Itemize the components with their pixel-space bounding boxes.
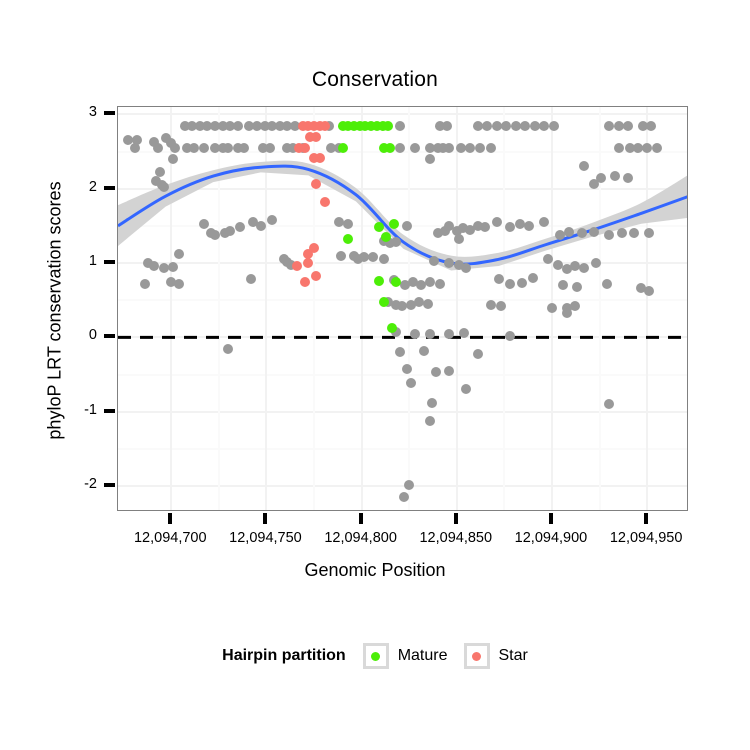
data-point bbox=[482, 121, 492, 131]
data-point bbox=[505, 279, 515, 289]
data-point bbox=[189, 143, 199, 153]
legend-dot-icon bbox=[371, 652, 380, 661]
data-point bbox=[256, 221, 266, 231]
data-point bbox=[555, 230, 565, 240]
x-axis-tick bbox=[263, 513, 267, 524]
data-point bbox=[311, 132, 321, 142]
y-axis-tick-label: -2 bbox=[57, 476, 97, 492]
legend-dot-icon bbox=[472, 652, 481, 661]
data-point bbox=[530, 121, 540, 131]
x-axis-title: Genomic Position bbox=[0, 560, 750, 581]
data-point bbox=[564, 227, 574, 237]
data-point bbox=[475, 143, 485, 153]
data-point bbox=[591, 258, 601, 268]
data-point bbox=[427, 398, 437, 408]
x-axis-tick bbox=[168, 513, 172, 524]
legend-item-mature[interactable]: Mature bbox=[363, 643, 448, 669]
data-point bbox=[383, 121, 393, 131]
data-point bbox=[442, 121, 452, 131]
data-point bbox=[174, 279, 184, 289]
data-point bbox=[410, 143, 420, 153]
y-axis-tick-label: -1 bbox=[57, 402, 97, 418]
data-point bbox=[444, 329, 454, 339]
data-point bbox=[633, 143, 643, 153]
y-axis-tick bbox=[104, 186, 115, 190]
data-point bbox=[517, 278, 527, 288]
data-point bbox=[515, 219, 525, 229]
data-point bbox=[553, 260, 563, 270]
conservation-scatter-plot: Conservation phyloP LRT conservation sco… bbox=[0, 0, 750, 750]
data-point bbox=[334, 217, 344, 227]
plot-panel bbox=[117, 106, 688, 511]
x-axis-tick bbox=[644, 513, 648, 524]
x-axis-tick-label: 12,094,950 bbox=[586, 530, 706, 546]
y-axis-title: phyloP LRT conservation scores bbox=[45, 101, 66, 521]
data-point bbox=[210, 230, 220, 240]
data-point bbox=[589, 227, 599, 237]
data-point bbox=[644, 286, 654, 296]
data-point bbox=[610, 171, 620, 181]
data-point bbox=[435, 279, 445, 289]
legend-items: MatureStar bbox=[363, 643, 528, 669]
data-point bbox=[549, 121, 559, 131]
data-point bbox=[223, 344, 233, 354]
y-axis-tick-label: 3 bbox=[57, 104, 97, 120]
data-point bbox=[511, 121, 521, 131]
data-point bbox=[387, 323, 397, 333]
legend-key-swatch bbox=[363, 643, 389, 669]
legend-title: Hairpin partition bbox=[222, 647, 346, 665]
data-point bbox=[399, 492, 409, 502]
data-point bbox=[614, 143, 624, 153]
data-point bbox=[562, 308, 572, 318]
data-point bbox=[292, 261, 302, 271]
x-axis-tick bbox=[454, 513, 458, 524]
legend-key-swatch bbox=[464, 643, 490, 669]
data-point bbox=[159, 182, 169, 192]
data-point bbox=[416, 280, 426, 290]
data-point bbox=[492, 121, 502, 131]
data-point bbox=[602, 279, 612, 289]
data-point bbox=[623, 121, 633, 131]
data-point bbox=[539, 121, 549, 131]
y-axis-tick bbox=[104, 260, 115, 264]
data-point bbox=[153, 143, 163, 153]
data-point bbox=[199, 219, 209, 229]
legend-item-star[interactable]: Star bbox=[464, 643, 528, 669]
y-axis-tick bbox=[104, 483, 115, 487]
data-point bbox=[547, 303, 557, 313]
data-point bbox=[239, 143, 249, 153]
data-point bbox=[570, 261, 580, 271]
data-point bbox=[170, 143, 180, 153]
data-point bbox=[336, 251, 346, 261]
data-point bbox=[604, 121, 614, 131]
data-point bbox=[425, 277, 435, 287]
data-point bbox=[199, 143, 209, 153]
data-point bbox=[410, 329, 420, 339]
data-point bbox=[374, 276, 384, 286]
data-point bbox=[233, 121, 243, 131]
data-point bbox=[374, 222, 384, 232]
data-point bbox=[572, 282, 582, 292]
data-point bbox=[300, 277, 310, 287]
y-axis-tick bbox=[104, 409, 115, 413]
data-point bbox=[652, 143, 662, 153]
page-title: Conservation bbox=[0, 68, 750, 92]
data-point bbox=[130, 143, 140, 153]
data-point bbox=[642, 143, 652, 153]
data-point bbox=[395, 121, 405, 131]
legend: Hairpin partition MatureStar bbox=[0, 643, 750, 669]
data-point bbox=[315, 153, 325, 163]
data-point bbox=[646, 121, 656, 131]
data-point bbox=[168, 262, 178, 272]
data-point bbox=[385, 143, 395, 153]
data-point bbox=[520, 121, 530, 131]
data-point bbox=[444, 366, 454, 376]
data-point bbox=[623, 173, 633, 183]
data-point bbox=[454, 234, 464, 244]
y-axis-tick-label: 0 bbox=[57, 327, 97, 343]
data-point bbox=[473, 121, 483, 131]
data-point bbox=[159, 263, 169, 273]
data-point bbox=[465, 143, 475, 153]
data-point bbox=[524, 221, 534, 231]
data-point bbox=[300, 143, 310, 153]
data-point bbox=[397, 301, 407, 311]
data-point bbox=[528, 273, 538, 283]
data-point bbox=[395, 347, 405, 357]
data-point bbox=[404, 480, 414, 490]
data-point bbox=[429, 256, 439, 266]
x-axis-tick bbox=[549, 513, 553, 524]
data-point bbox=[604, 230, 614, 240]
data-point bbox=[456, 143, 466, 153]
data-point bbox=[174, 249, 184, 259]
data-point bbox=[140, 279, 150, 289]
y-axis-tick bbox=[104, 334, 115, 338]
data-point bbox=[505, 331, 515, 341]
legend-label: Star bbox=[499, 647, 528, 665]
y-axis-tick-label: 1 bbox=[57, 253, 97, 269]
x-axis-tick bbox=[359, 513, 363, 524]
data-point bbox=[486, 143, 496, 153]
data-point bbox=[444, 143, 454, 153]
data-point bbox=[501, 121, 511, 131]
data-point bbox=[492, 217, 502, 227]
data-point bbox=[614, 121, 624, 131]
data-point bbox=[338, 143, 348, 153]
legend-label: Mature bbox=[398, 647, 448, 665]
data-point bbox=[496, 301, 506, 311]
data-point bbox=[579, 263, 589, 273]
data-point bbox=[359, 252, 369, 262]
data-point bbox=[395, 143, 405, 153]
y-axis-tick-label: 2 bbox=[57, 179, 97, 195]
y-axis-tick bbox=[104, 111, 115, 115]
